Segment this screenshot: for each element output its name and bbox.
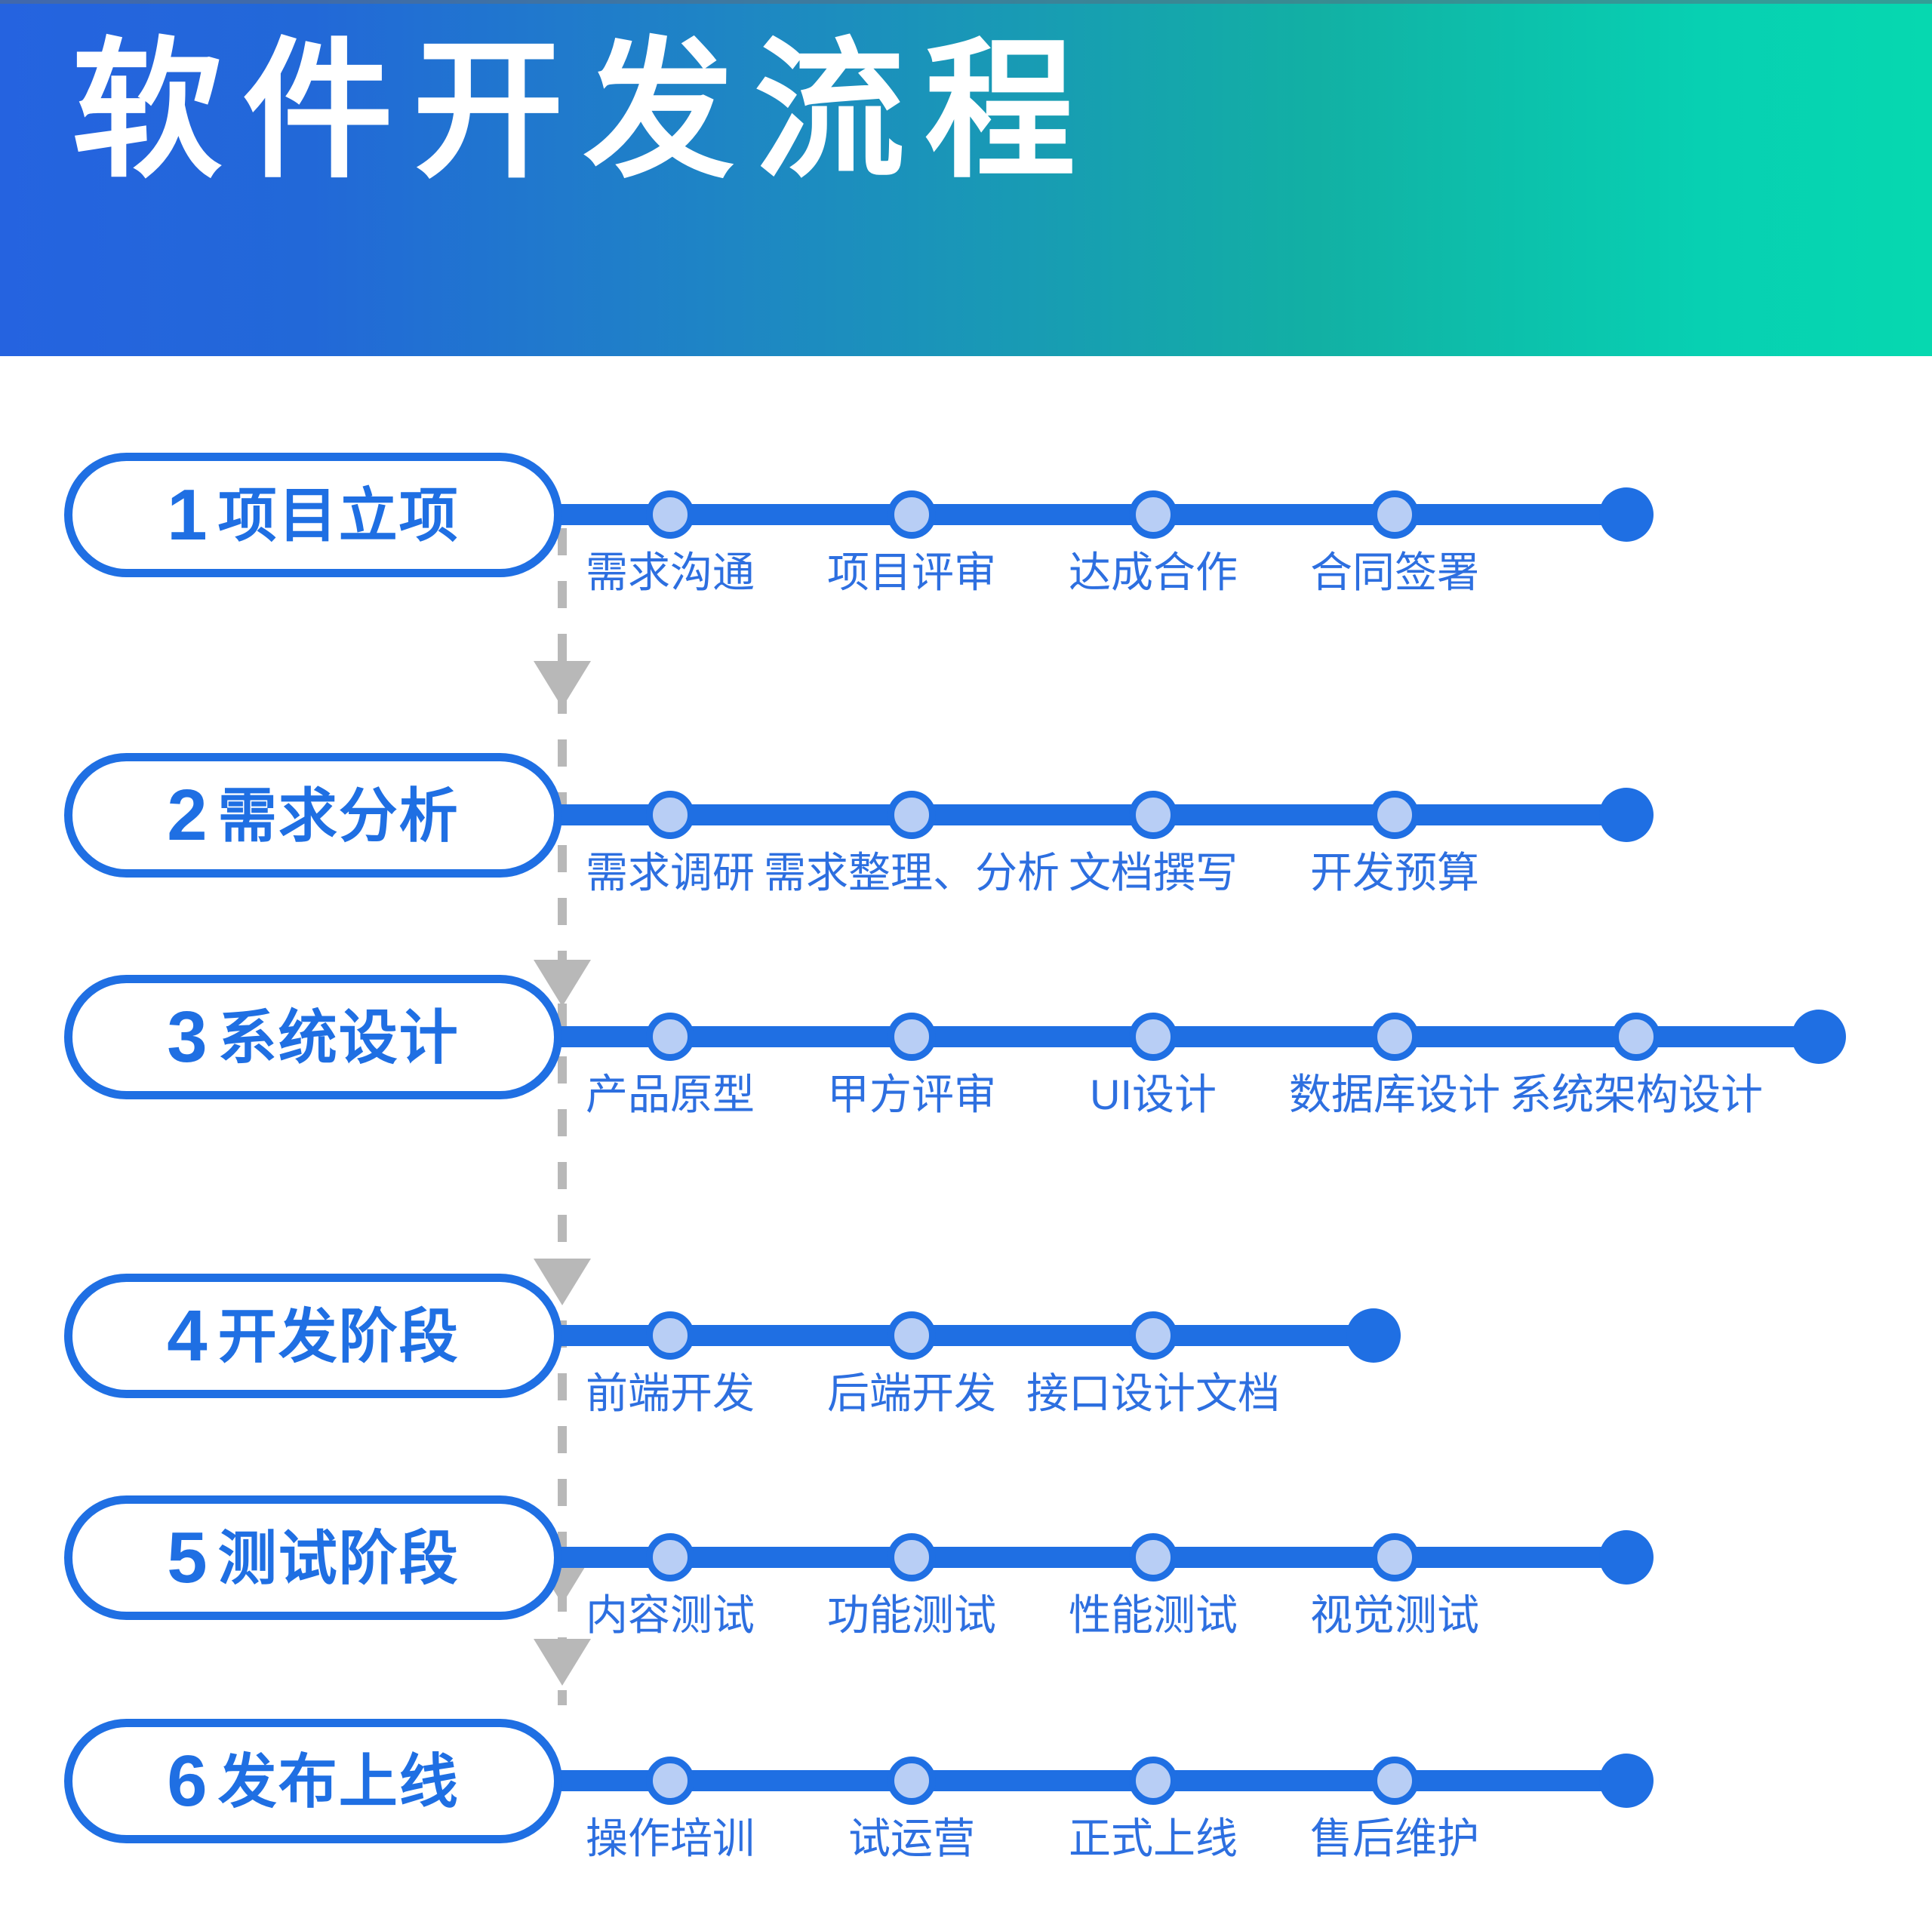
milestone-label: 前端开发 — [586, 1370, 755, 1417]
milestone-dot[interactable] — [1129, 1013, 1177, 1061]
step-title: 需求分析 — [218, 786, 460, 845]
milestone-label: 试运营 — [848, 1815, 975, 1862]
milestone-label: 文档撰写 — [1069, 850, 1238, 896]
milestone-dot[interactable] — [888, 791, 936, 839]
milestone-dot[interactable] — [888, 1533, 936, 1581]
milestone-label: 达成合作 — [1069, 549, 1238, 596]
step-title: 开发阶段 — [218, 1307, 460, 1366]
step-pill-4[interactable]: 4开发阶段 — [64, 1274, 562, 1398]
step-pill-1[interactable]: 1项目立项 — [64, 453, 562, 577]
milestone-label: 售后维护 — [1310, 1815, 1479, 1862]
header-top-rule — [0, 0, 1932, 4]
milestone-dot[interactable] — [646, 1757, 694, 1805]
milestone-dot[interactable] — [1371, 1013, 1419, 1061]
milestone-label: 需求整理、分析 — [764, 850, 1060, 896]
milestone-label: 后端开发 — [827, 1370, 996, 1417]
timeline-track — [555, 1547, 1626, 1568]
milestone-dot[interactable] — [646, 791, 694, 839]
step-number: 2 — [167, 779, 207, 852]
milestone-label: 接口设计文档 — [1026, 1370, 1280, 1417]
step-pill-3[interactable]: 3系统设计 — [64, 975, 562, 1099]
milestone-label: 项目评审 — [827, 549, 996, 596]
timeline-track — [555, 1770, 1626, 1791]
milestone-dot[interactable] — [1371, 1533, 1419, 1581]
milestone-dot[interactable] — [888, 1757, 936, 1805]
milestone-label: 产品原型 — [586, 1071, 755, 1118]
step-title: 发布上线 — [218, 1752, 460, 1811]
step-number: 1 — [167, 479, 207, 552]
timeline-track — [555, 504, 1626, 525]
milestone-label: 需求沟通 — [586, 549, 755, 596]
milestone-dot[interactable] — [1129, 1311, 1177, 1360]
step-pill-5[interactable]: 5测试阶段 — [64, 1495, 562, 1620]
timeline-end-dot — [1792, 1010, 1846, 1064]
milestone-dot[interactable] — [1371, 791, 1419, 839]
step-row-4: 4开发阶段前端开发后端开发接口设计文档 — [0, 1274, 1932, 1470]
flow-arrow-icon-1 — [534, 661, 591, 708]
step-title: 系统设计 — [218, 1008, 460, 1067]
milestone-label: 合同签署 — [1310, 549, 1479, 596]
milestone-dot[interactable] — [1129, 1533, 1177, 1581]
milestone-label: 正式上线 — [1069, 1815, 1238, 1862]
milestone-label: 甲方评审 — [827, 1071, 996, 1118]
step-number: 6 — [167, 1745, 207, 1818]
step-row-3: 3系统设计产品原型甲方评审UI设计数据库设计系统架构设计 — [0, 975, 1932, 1171]
milestone-label: 视觉测试 — [1310, 1592, 1479, 1639]
milestone-label: 内容测试 — [586, 1592, 755, 1639]
milestone-label: 系统架构设计 — [1509, 1071, 1763, 1118]
milestone-label: 需求调研 — [586, 850, 755, 896]
step-row-1: 1项目立项需求沟通项目评审达成合作合同签署 — [0, 453, 1932, 649]
step-pill-2[interactable]: 2需求分析 — [64, 753, 562, 878]
milestone-dot[interactable] — [1129, 791, 1177, 839]
milestone-label: 开发预算 — [1310, 850, 1479, 896]
timeline-end-dot — [1346, 1308, 1401, 1363]
page-title: 软件开发流程 — [72, 36, 1095, 187]
milestone-dot[interactable] — [888, 1311, 936, 1360]
timeline-end-dot — [1599, 788, 1654, 842]
step-number: 5 — [167, 1522, 207, 1594]
step-title: 项目立项 — [218, 486, 460, 545]
milestone-label: 功能测试 — [827, 1592, 996, 1639]
timeline-end-dot — [1599, 1530, 1654, 1585]
step-row-5: 5测试阶段内容测试功能测试性能测试视觉测试 — [0, 1495, 1932, 1692]
milestone-dot[interactable] — [1129, 490, 1177, 539]
milestone-label: UI设计 — [1090, 1071, 1217, 1118]
milestone-dot[interactable] — [646, 1013, 694, 1061]
step-row-6: 6发布上线操作培训试运营正式上线售后维护 — [0, 1719, 1932, 1915]
timeline-end-dot — [1599, 1754, 1654, 1808]
flow-diagram-page: 软件开发流程 1项目立项需求沟通项目评审达成合作合同签署2需求分析需求调研需求整… — [0, 0, 1932, 1909]
timeline-track — [555, 804, 1626, 825]
step-pill-6[interactable]: 6发布上线 — [64, 1719, 562, 1843]
step-title: 测试阶段 — [218, 1529, 460, 1588]
header-banner: 软件开发流程 — [0, 0, 1932, 356]
milestone-dot[interactable] — [1371, 1757, 1419, 1805]
milestone-label: 数据库设计 — [1289, 1071, 1500, 1118]
milestone-dot[interactable] — [888, 490, 936, 539]
milestone-dot[interactable] — [646, 1533, 694, 1581]
milestone-dot[interactable] — [646, 490, 694, 539]
milestone-label: 操作培训 — [586, 1815, 755, 1862]
milestone-dot[interactable] — [888, 1013, 936, 1061]
milestone-dot[interactable] — [1129, 1757, 1177, 1805]
milestone-dot[interactable] — [1612, 1013, 1660, 1061]
milestone-dot[interactable] — [1371, 490, 1419, 539]
milestone-dot[interactable] — [646, 1311, 694, 1360]
step-number: 3 — [167, 1001, 207, 1074]
milestone-label: 性能测试 — [1069, 1592, 1238, 1639]
step-row-2: 2需求分析需求调研需求整理、分析文档撰写开发预算 — [0, 753, 1932, 949]
timeline-end-dot — [1599, 487, 1654, 542]
step-number: 4 — [167, 1300, 207, 1372]
